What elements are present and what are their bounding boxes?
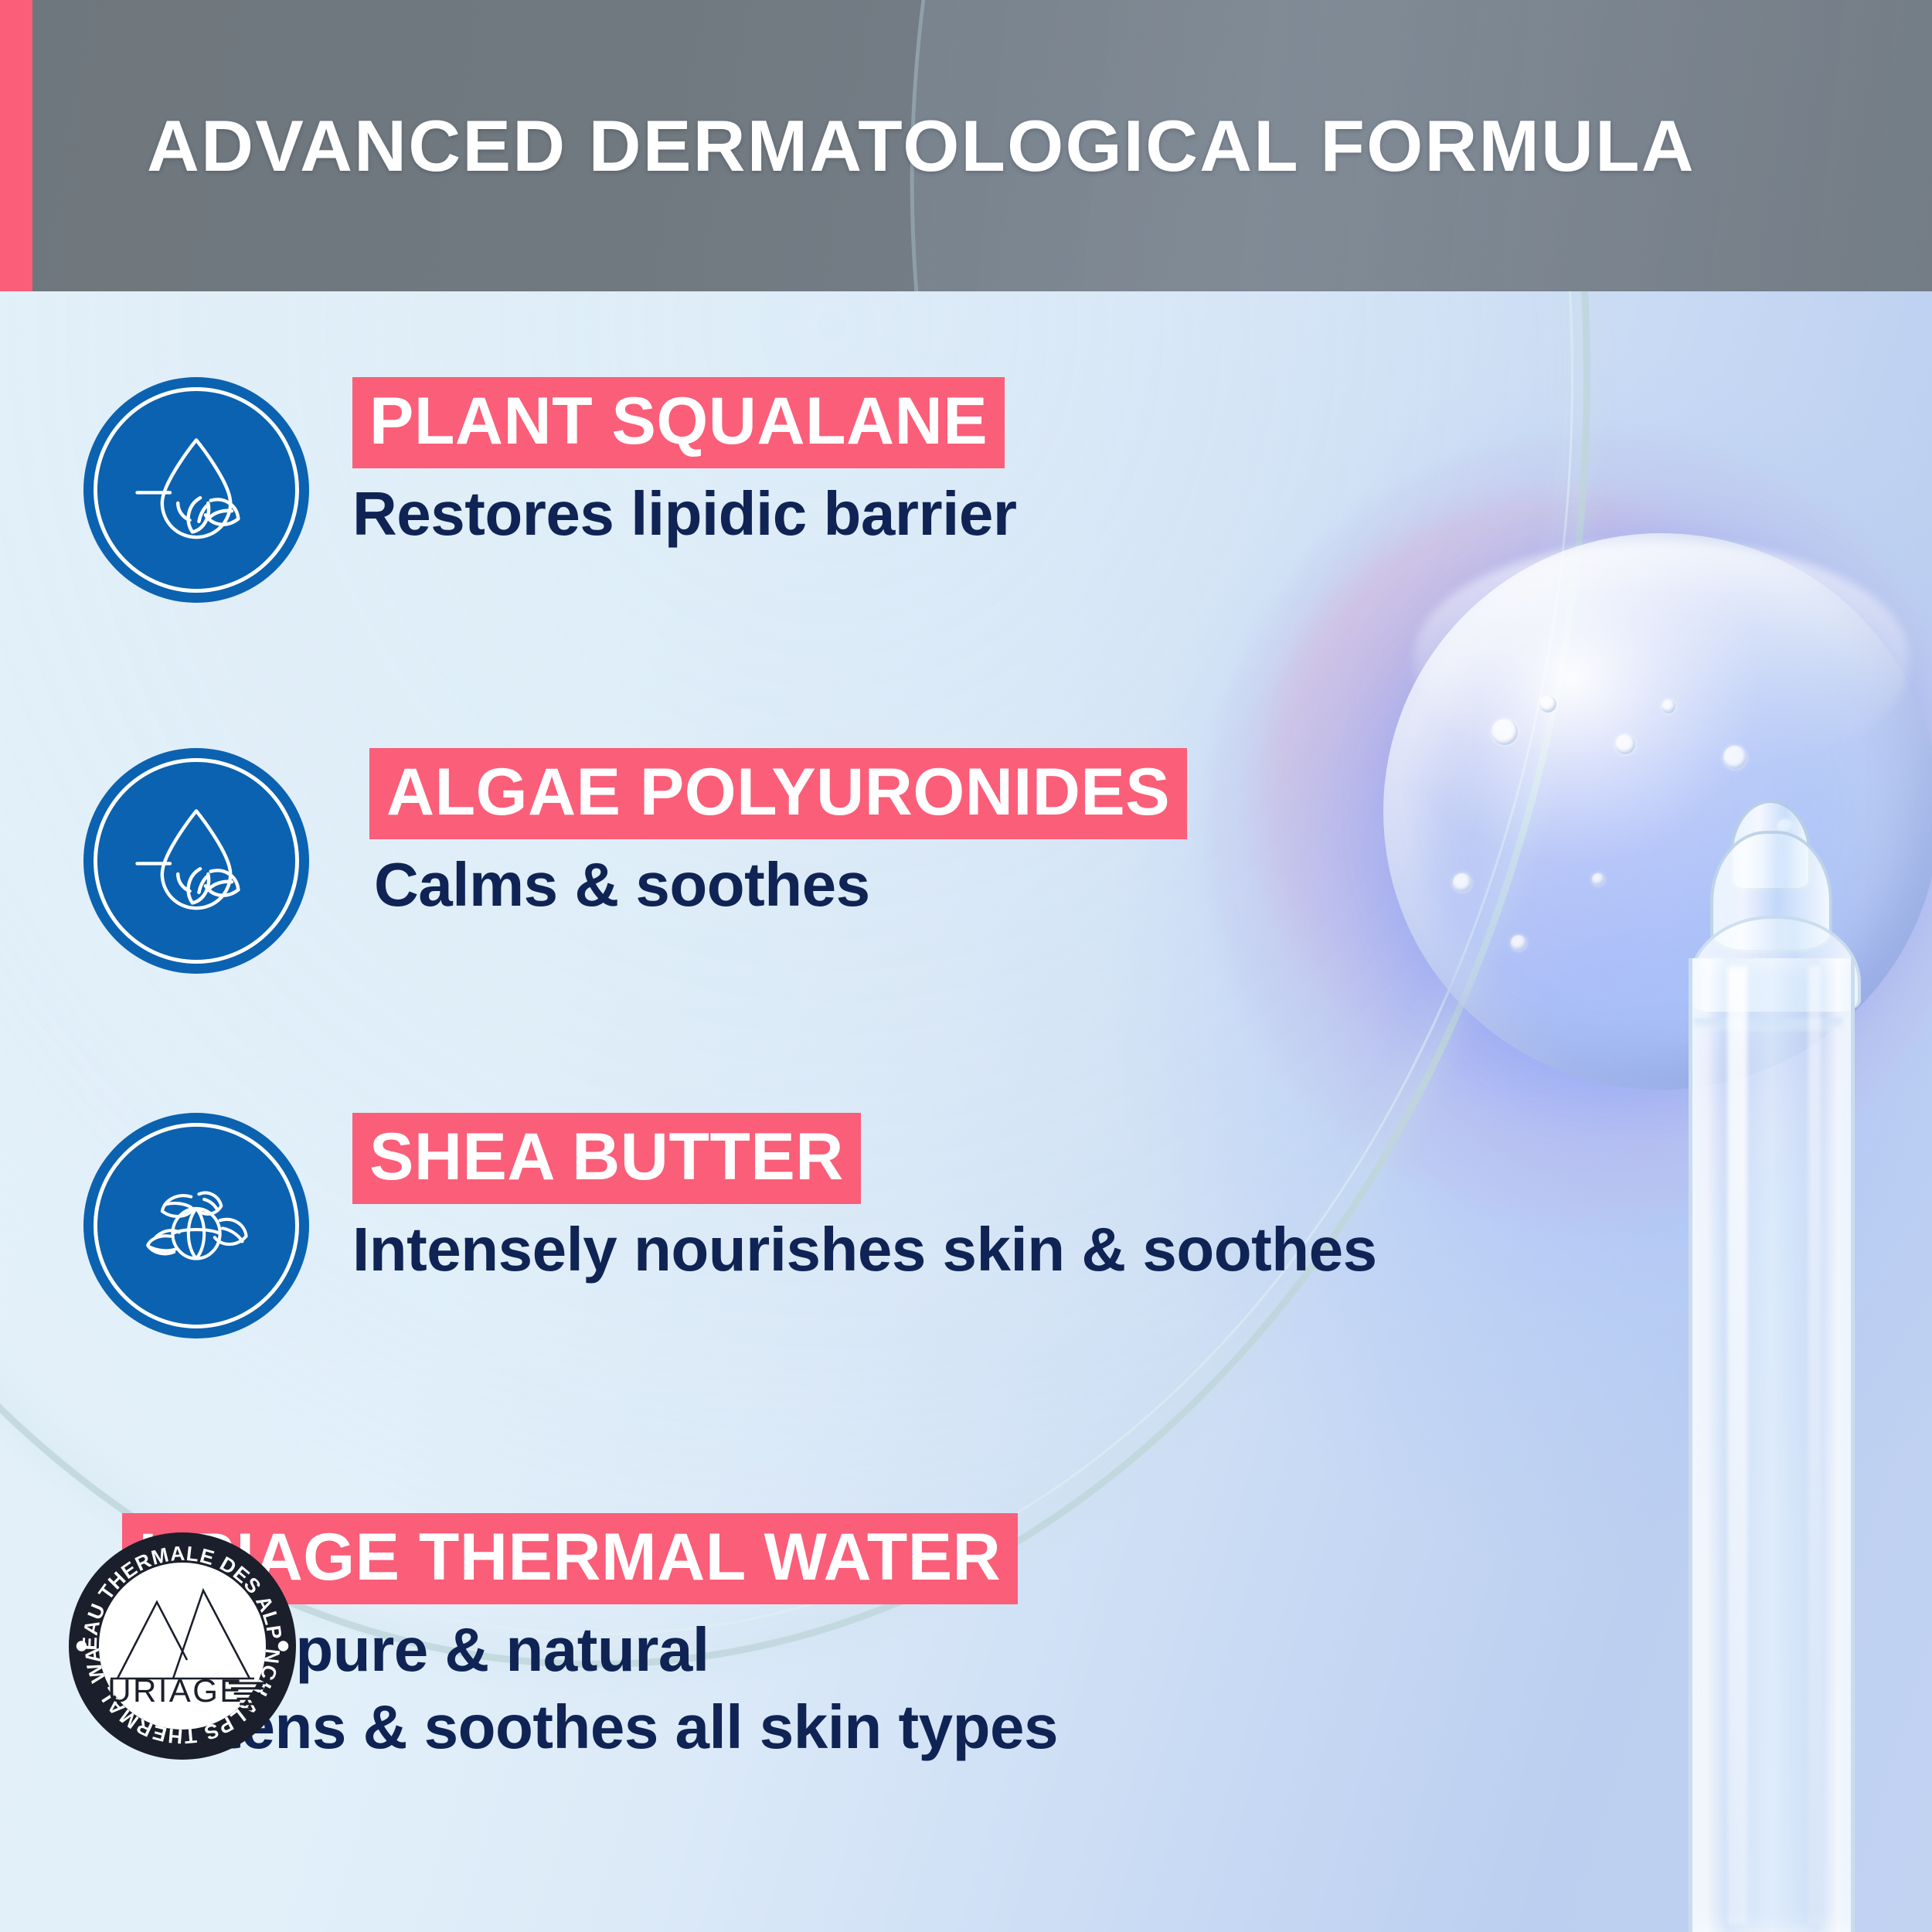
bubble-icon (1511, 935, 1526, 951)
feature-title-badge: ALGAE POLYURONIDES (369, 748, 1187, 839)
water-droplet-leaf-icon (83, 748, 309, 974)
feature-description: Restores lipidic barrier (352, 479, 1016, 549)
bubble-icon (1662, 699, 1675, 713)
water-droplet-leaf-icon (83, 377, 309, 603)
feature-row-plant-squalane: PLANT SQUALANE Restores lipidic barrier (83, 377, 1016, 603)
feature-title-badge: SHEA BUTTER (352, 1113, 861, 1204)
feature-text-block: ALGAE POLYURONIDES Calms & soothes (369, 748, 1187, 920)
bubble-icon (1492, 719, 1518, 745)
bubble-icon (1453, 873, 1471, 892)
feature-text-block: SHEA BUTTER Intensely nourishes skin & s… (352, 1113, 1377, 1284)
feature-title-badge: PLANT SQUALANE (352, 377, 1005, 468)
feature-row-shea-butter: SHEA BUTTER Intensely nourishes skin & s… (83, 1113, 1377, 1338)
bubble-icon (1723, 746, 1747, 769)
feature-description: Calms & soothes (374, 850, 1187, 920)
ampoule-body (1689, 958, 1855, 1932)
infographic-canvas: ADVANCED DERMATOLOGICAL FORMULA PLANT SQ… (0, 0, 1932, 1932)
page-title: ADVANCED DERMATOLOGICAL FORMULA (147, 0, 1696, 291)
accent-bar (0, 0, 32, 291)
shea-nuts-icon (83, 1113, 309, 1338)
feature-row-algae-polyuronides: ALGAE POLYURONIDES Calms & soothes (83, 748, 1187, 974)
bubble-icon (1615, 734, 1635, 754)
ampoule-highlight-secondary (1808, 966, 1821, 1924)
badge-brand-text: URIAGE (107, 1672, 243, 1709)
header-banner: ADVANCED DERMATOLOGICAL FORMULA (0, 0, 1932, 291)
uriage-thermal-water-badge: L'EAU THERMALE DES ALPES FRENCH ALPS THE… (66, 1530, 298, 1762)
bubble-icon (1539, 696, 1556, 713)
feature-description: Intensely nourishes skin & soothes (352, 1215, 1377, 1284)
feature-row-uriage-thermal-water: L'EAU THERMALE DES ALPES FRENCH ALPS THE… (66, 1530, 1058, 1761)
gel-droplet-highlight (1414, 541, 1909, 773)
ampoule-highlight (1727, 966, 1747, 1924)
bubble-icon (1592, 873, 1604, 886)
feature-text-block: PLANT SQUALANE Restores lipidic barrier (352, 377, 1016, 549)
